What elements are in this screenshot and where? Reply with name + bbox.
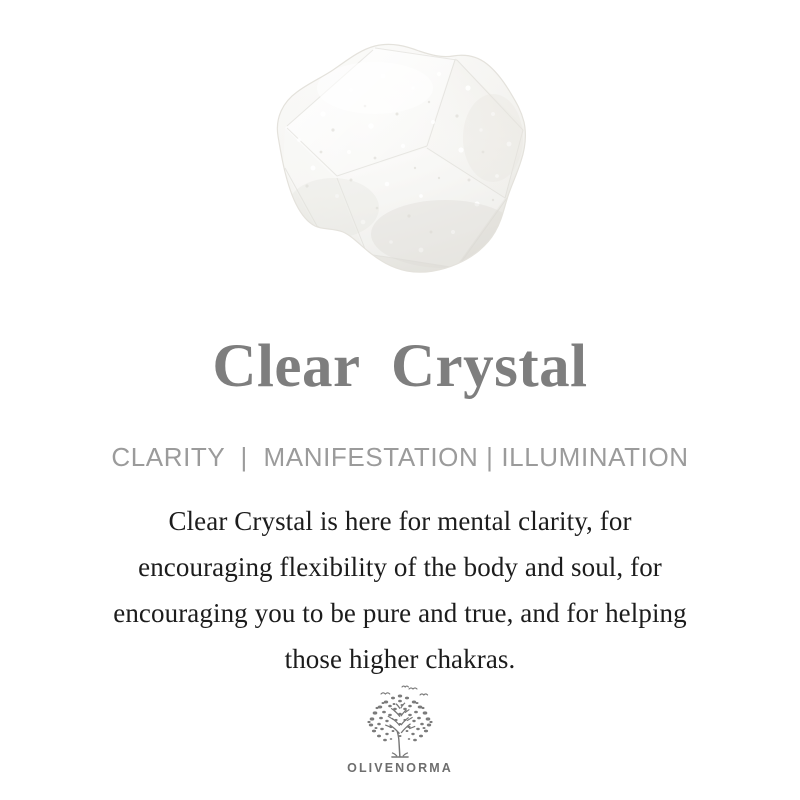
description-line: encouraging flexibility of the body and … [30, 544, 770, 590]
product-keywords: CLARITY | MANIFESTATION | ILLUMINATION [0, 443, 800, 472]
brand-wordmark: OLIVENORMA [0, 762, 800, 775]
product-info-card: Clear Crystal CLARITY | MANIFESTATION | … [0, 0, 800, 800]
description-line: encouraging you to be pure and true, and… [30, 590, 770, 636]
description-line: Clear Crystal is here for mental clarity… [30, 498, 770, 544]
clear-crystal-image [225, 18, 565, 308]
brand-logo: OLIVENORMA [0, 684, 800, 775]
product-description: Clear Crystal is here for mental clarity… [30, 498, 770, 682]
product-image-area [0, 0, 800, 320]
product-title: Clear Crystal [0, 336, 800, 397]
description-line: those higher chakras. [30, 636, 770, 682]
olive-tree-logo-icon [357, 684, 443, 760]
